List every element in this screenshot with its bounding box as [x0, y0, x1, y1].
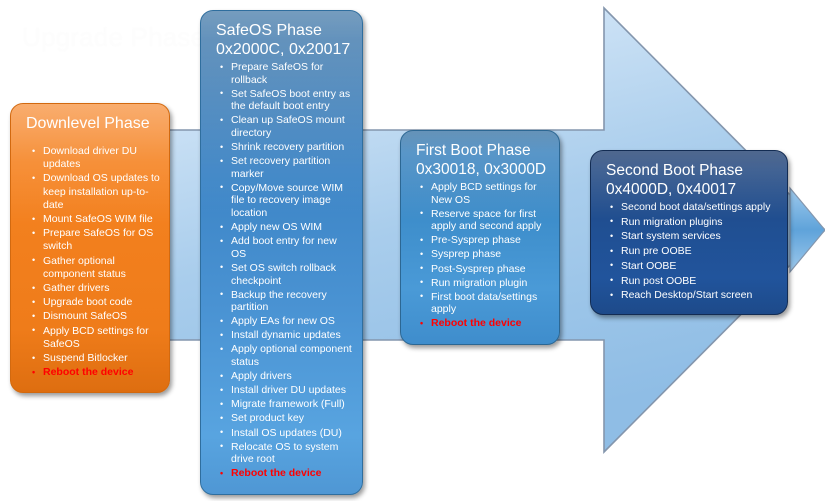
list-item: Second boot data/settings apply [608, 201, 778, 214]
list-item: Upgrade boot code [30, 296, 160, 309]
list-item: Apply EAs for new OS [218, 315, 353, 328]
phase-title: Downlevel Phase [26, 114, 160, 133]
list-item: Post-Sysprep phase [418, 263, 550, 276]
list-item: Copy/Move source WIM file to recovery im… [218, 182, 353, 220]
list-item: Download driver DU updates [30, 145, 160, 171]
phase-step-list: Prepare SafeOS for rollback Set SafeOS b… [212, 61, 353, 480]
list-item: Install dynamic updates [218, 329, 353, 342]
list-item: Download OS updates to keep installation… [30, 172, 160, 212]
list-item: Run post OOBE [608, 275, 778, 288]
list-item: Backup the recovery partition [218, 289, 353, 314]
phase-step-list: Apply BCD settings for New OS Reserve sp… [412, 181, 550, 330]
phase-box-secondboot[interactable]: Second Boot Phase 0x4000D, 0x40017 Secon… [590, 150, 788, 315]
list-item: Reserve space for first apply and second… [418, 208, 550, 233]
list-item: Prepare SafeOS for rollback [218, 61, 353, 86]
phase-codes: 0x2000C, 0x20017 [216, 40, 353, 59]
phase-title: Second Boot Phase [606, 161, 778, 180]
list-item: Apply optional component status [218, 343, 353, 368]
list-item: Apply BCD settings for New OS [418, 181, 550, 206]
phase-title: First Boot Phase [416, 141, 550, 160]
list-item: Relocate OS to system drive root [218, 441, 353, 466]
list-item: Start OOBE [608, 260, 778, 273]
list-item: Migrate framework (Full) [218, 398, 353, 411]
phase-title: SafeOS Phase [216, 21, 353, 40]
list-item: Add boot entry for new OS [218, 235, 353, 260]
list-item: Install OS updates (DU) [218, 427, 353, 440]
list-item: Sysprep phase [418, 248, 550, 261]
phase-step-list: Second boot data/settings apply Run migr… [602, 201, 778, 302]
list-item: Shrink recovery partition [218, 141, 353, 154]
list-item: First boot data/settings apply [418, 291, 550, 316]
upgrade-phases-diagram: Upgrade Phases [0, 0, 825, 501]
list-item-reboot: Reboot the device [30, 366, 160, 379]
phase-box-safeos[interactable]: SafeOS Phase 0x2000C, 0x20017 Prepare Sa… [200, 10, 363, 495]
list-item: Pre-Sysprep phase [418, 234, 550, 247]
list-item: Set recovery partition marker [218, 155, 353, 180]
list-item: Apply BCD settings for SafeOS [30, 325, 160, 351]
list-item-reboot: Reboot the device [218, 467, 353, 480]
list-item: Gather drivers [30, 282, 160, 295]
list-item: Run migration plugin [418, 277, 550, 290]
list-item: Prepare SafeOS for OS switch [30, 227, 160, 253]
list-item: Set OS switch rollback checkpoint [218, 262, 353, 287]
list-item: Suspend Bitlocker [30, 352, 160, 365]
list-item: Reach Desktop/Start screen [608, 289, 778, 302]
list-item: Run pre OOBE [608, 245, 778, 258]
list-item: Gather optional component status [30, 255, 160, 281]
list-item: Run migration plugins [608, 216, 778, 229]
list-item: Start system services [608, 230, 778, 243]
list-item: Set SafeOS boot entry as the default boo… [218, 88, 353, 113]
list-item: Apply new OS WIM [218, 221, 353, 234]
list-item: Dismount SafeOS [30, 310, 160, 323]
list-item: Install driver DU updates [218, 384, 353, 397]
list-item: Clean up SafeOS mount directory [218, 114, 353, 139]
phase-box-firstboot[interactable]: First Boot Phase 0x30018, 0x3000D Apply … [400, 130, 560, 345]
phase-codes: 0x4000D, 0x40017 [606, 180, 778, 199]
list-item: Apply drivers [218, 370, 353, 383]
phase-codes: 0x30018, 0x3000D [416, 160, 550, 179]
phase-box-downlevel[interactable]: Downlevel Phase Download driver DU updat… [10, 103, 170, 393]
list-item: Mount SafeOS WIM file [30, 213, 160, 226]
phase-step-list: Download driver DU updates Download OS u… [22, 145, 160, 379]
list-item-reboot: Reboot the device [418, 317, 550, 330]
list-item: Set product key [218, 412, 353, 425]
